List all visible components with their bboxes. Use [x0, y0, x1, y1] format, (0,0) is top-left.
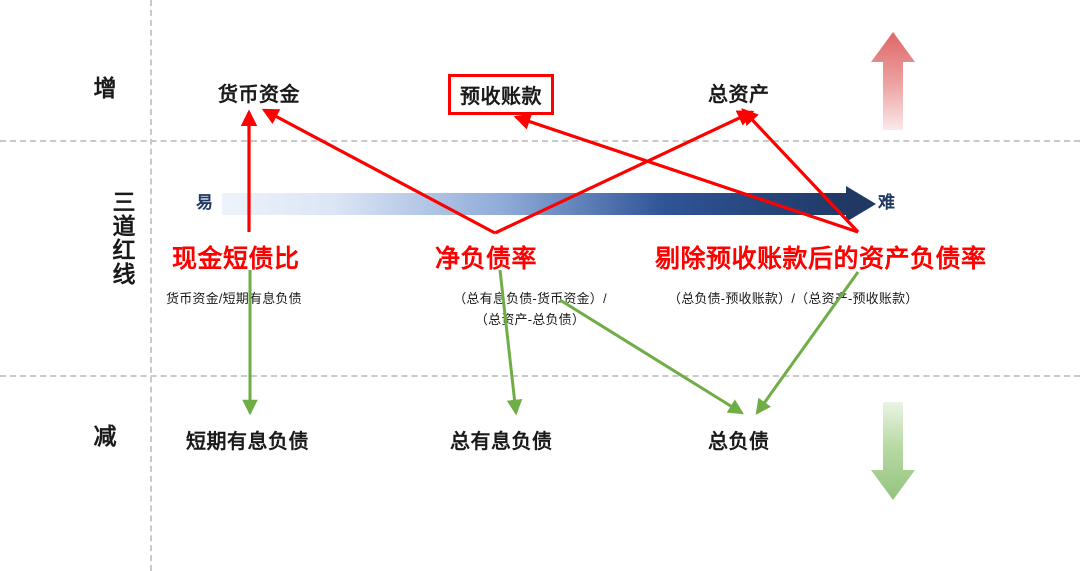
red-arrow-leverage-to-advance — [516, 117, 858, 232]
red-arrow-gearing-to-cash — [264, 110, 495, 233]
difficulty-gradient-arrow — [222, 186, 876, 222]
row-label-three-red-lines: 三道红线 — [75, 190, 135, 286]
diagram-canvas: 增 三道红线 减 货币资金 预收账款 总资产 易 难 现金短债比 净负债率 剔除… — [0, 0, 1080, 571]
formula-net-gearing-line2: （总资产-总负债） — [405, 310, 655, 330]
grid-line-vertical — [150, 0, 152, 571]
metric-title-adjusted-leverage: 剔除预收账款后的资产负债率 — [655, 239, 987, 275]
formula-net-gearing-line1: （总有息负债-货币资金）/ — [405, 289, 655, 309]
grid-line-bottom — [0, 375, 1080, 377]
node-total-interest-debt: 总有息负债 — [450, 425, 553, 454]
row-label-decrease: 减 — [75, 423, 135, 450]
grid-line-top — [0, 140, 1080, 142]
axis-label-easy: 易 — [196, 188, 213, 213]
decrease-arrow — [871, 402, 915, 500]
metric-title-cash-short-debt: 现金短债比 — [172, 239, 300, 275]
formula-adjusted-leverage: （总负债-预收账款）/（总资产-预收账款） — [668, 289, 918, 309]
node-total-liabilities: 总负债 — [708, 425, 770, 454]
node-total-assets: 总资产 — [708, 78, 770, 107]
red-arrow-leverage-to-total-assets — [743, 110, 858, 232]
node-cash: 货币资金 — [218, 78, 300, 107]
increase-arrow — [871, 32, 915, 130]
red-arrow-gearing-to-total-assets — [495, 112, 752, 233]
metric-title-net-gearing: 净负债率 — [435, 239, 537, 275]
row-label-increase: 增 — [75, 75, 135, 102]
axis-label-hard: 难 — [878, 188, 895, 213]
formula-cash-short-debt: 货币资金/短期有息负债 — [166, 289, 302, 309]
node-advance-receipts: 预收账款 — [448, 74, 554, 115]
red-connectors — [249, 110, 858, 233]
node-short-term-debt: 短期有息负债 — [186, 425, 309, 454]
